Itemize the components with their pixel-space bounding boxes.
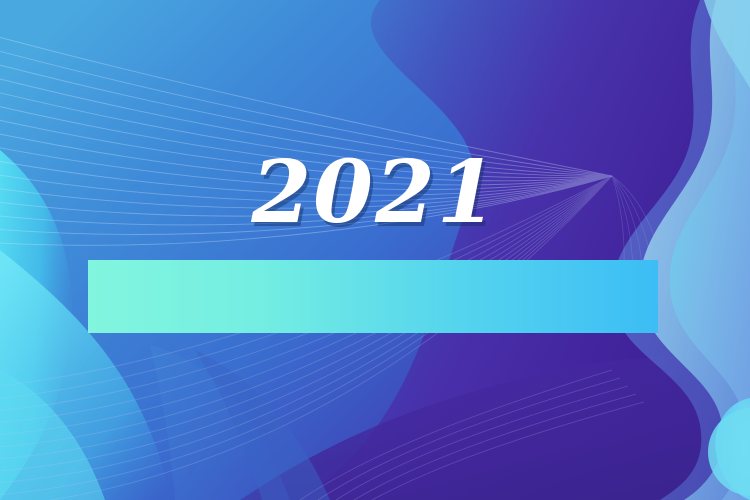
- title-banner: 考研国家线: [88, 260, 658, 333]
- decorative-background: [0, 0, 750, 500]
- year-2021: 2021: [0, 148, 750, 238]
- poster-canvas: 2021 考研国家线: [0, 0, 750, 500]
- title-banner-background: [88, 260, 658, 333]
